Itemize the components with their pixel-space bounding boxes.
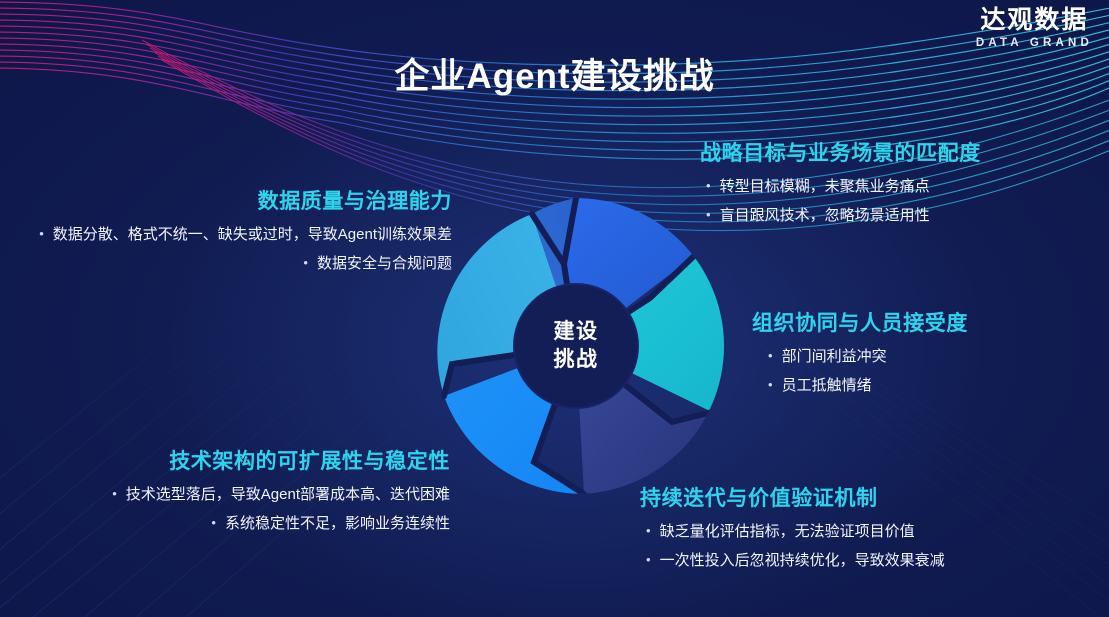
- page-title: 企业Agent建设挑战: [0, 48, 1109, 99]
- list-item-text: 数据安全与合规问题: [317, 255, 452, 272]
- aperture-diagram: 建设 挑战: [424, 194, 728, 498]
- list-item: •数据分散、格式不统一、缺失或过时，导致Agent训练效果差: [20, 223, 452, 246]
- bullet-icon: •: [706, 176, 711, 196]
- list-item-text: 部门间利益冲突: [782, 348, 887, 365]
- list-item: •缺乏量化评估指标，无法验证项目价值: [640, 520, 945, 543]
- section-strategy-match: 战略目标与业务场景的匹配度 •转型目标模糊，未聚焦业务痛点 •盲目跟风技术，忽略…: [700, 142, 981, 234]
- list-item: •员工抵触情绪: [752, 374, 968, 397]
- list-item: •转型目标模糊，未聚焦业务痛点: [700, 175, 981, 198]
- bullet-icon: •: [768, 375, 773, 395]
- bullet-icon: •: [706, 205, 711, 225]
- list-item-text: 缺乏量化评估指标，无法验证项目价值: [660, 523, 915, 540]
- bullet-icon: •: [112, 484, 117, 504]
- list-item: •部门间利益冲突: [752, 345, 968, 368]
- list-item-text: 数据分散、格式不统一、缺失或过时，导致Agent训练效果差: [53, 226, 452, 243]
- bullet-icon: •: [646, 521, 651, 541]
- section-tech-architecture-list: •技术选型落后，导致Agent部署成本高、迭代困难 •系统稳定性不足，影响业务连…: [100, 483, 450, 536]
- slide-canvas: 达观数据 DATA GRAND 企业Agent建设挑战: [0, 0, 1109, 617]
- list-item-text: 技术选型落后，导致Agent部署成本高、迭代困难: [126, 486, 450, 503]
- list-item: •数据安全与合规问题: [20, 252, 452, 275]
- section-tech-architecture-heading: 技术架构的可扩展性与稳定性: [100, 450, 450, 474]
- section-continuous-iteration-heading: 持续迭代与价值验证机制: [640, 487, 945, 511]
- section-tech-architecture: 技术架构的可扩展性与稳定性 •技术选型落后，导致Agent部署成本高、迭代困难 …: [100, 450, 450, 542]
- bullet-icon: •: [303, 253, 308, 273]
- list-item: •技术选型落后，导致Agent部署成本高、迭代困难: [100, 483, 450, 506]
- bullet-icon: •: [768, 346, 773, 366]
- list-item-text: 一次性投入后忽视持续优化，导致效果衰减: [660, 552, 945, 569]
- list-item-text: 转型目标模糊，未聚焦业务痛点: [720, 178, 930, 195]
- section-org-collaboration: 组织协同与人员接受度 •部门间利益冲突 •员工抵触情绪: [752, 312, 968, 404]
- list-item-text: 盲目跟风技术，忽略场景适用性: [720, 207, 930, 224]
- list-item-text: 系统稳定性不足，影响业务连续性: [225, 515, 450, 532]
- section-org-collaboration-heading: 组织协同与人员接受度: [752, 312, 968, 336]
- brand-logo: 达观数据 DATA GRAND: [976, 8, 1093, 50]
- bullet-icon: •: [211, 513, 216, 533]
- section-continuous-iteration: 持续迭代与价值验证机制 •缺乏量化评估指标，无法验证项目价值 •一次性投入后忽视…: [640, 487, 945, 579]
- bullet-icon: •: [39, 224, 44, 244]
- logo-chinese-name: 达观数据: [976, 8, 1093, 33]
- section-strategy-match-heading: 战略目标与业务场景的匹配度: [700, 142, 981, 166]
- list-item: •系统稳定性不足，影响业务连续性: [100, 512, 450, 535]
- list-item: •盲目跟风技术，忽略场景适用性: [700, 204, 981, 227]
- section-continuous-iteration-list: •缺乏量化评估指标，无法验证项目价值 •一次性投入后忽视持续优化，导致效果衰减: [640, 520, 945, 573]
- section-data-quality-heading: 数据质量与治理能力: [20, 190, 452, 214]
- list-item-text: 员工抵触情绪: [782, 377, 872, 394]
- section-strategy-match-list: •转型目标模糊，未聚焦业务痛点 •盲目跟风技术，忽略场景适用性: [700, 175, 981, 228]
- section-data-quality: 数据质量与治理能力 •数据分散、格式不统一、缺失或过时，导致Agent训练效果差…: [20, 190, 452, 282]
- list-item: •一次性投入后忽视持续优化，导致效果衰减: [640, 549, 945, 572]
- section-data-quality-list: •数据分散、格式不统一、缺失或过时，导致Agent训练效果差 •数据安全与合规问…: [20, 223, 452, 276]
- section-org-collaboration-list: •部门间利益冲突 •员工抵触情绪: [752, 345, 968, 398]
- bullet-icon: •: [646, 550, 651, 570]
